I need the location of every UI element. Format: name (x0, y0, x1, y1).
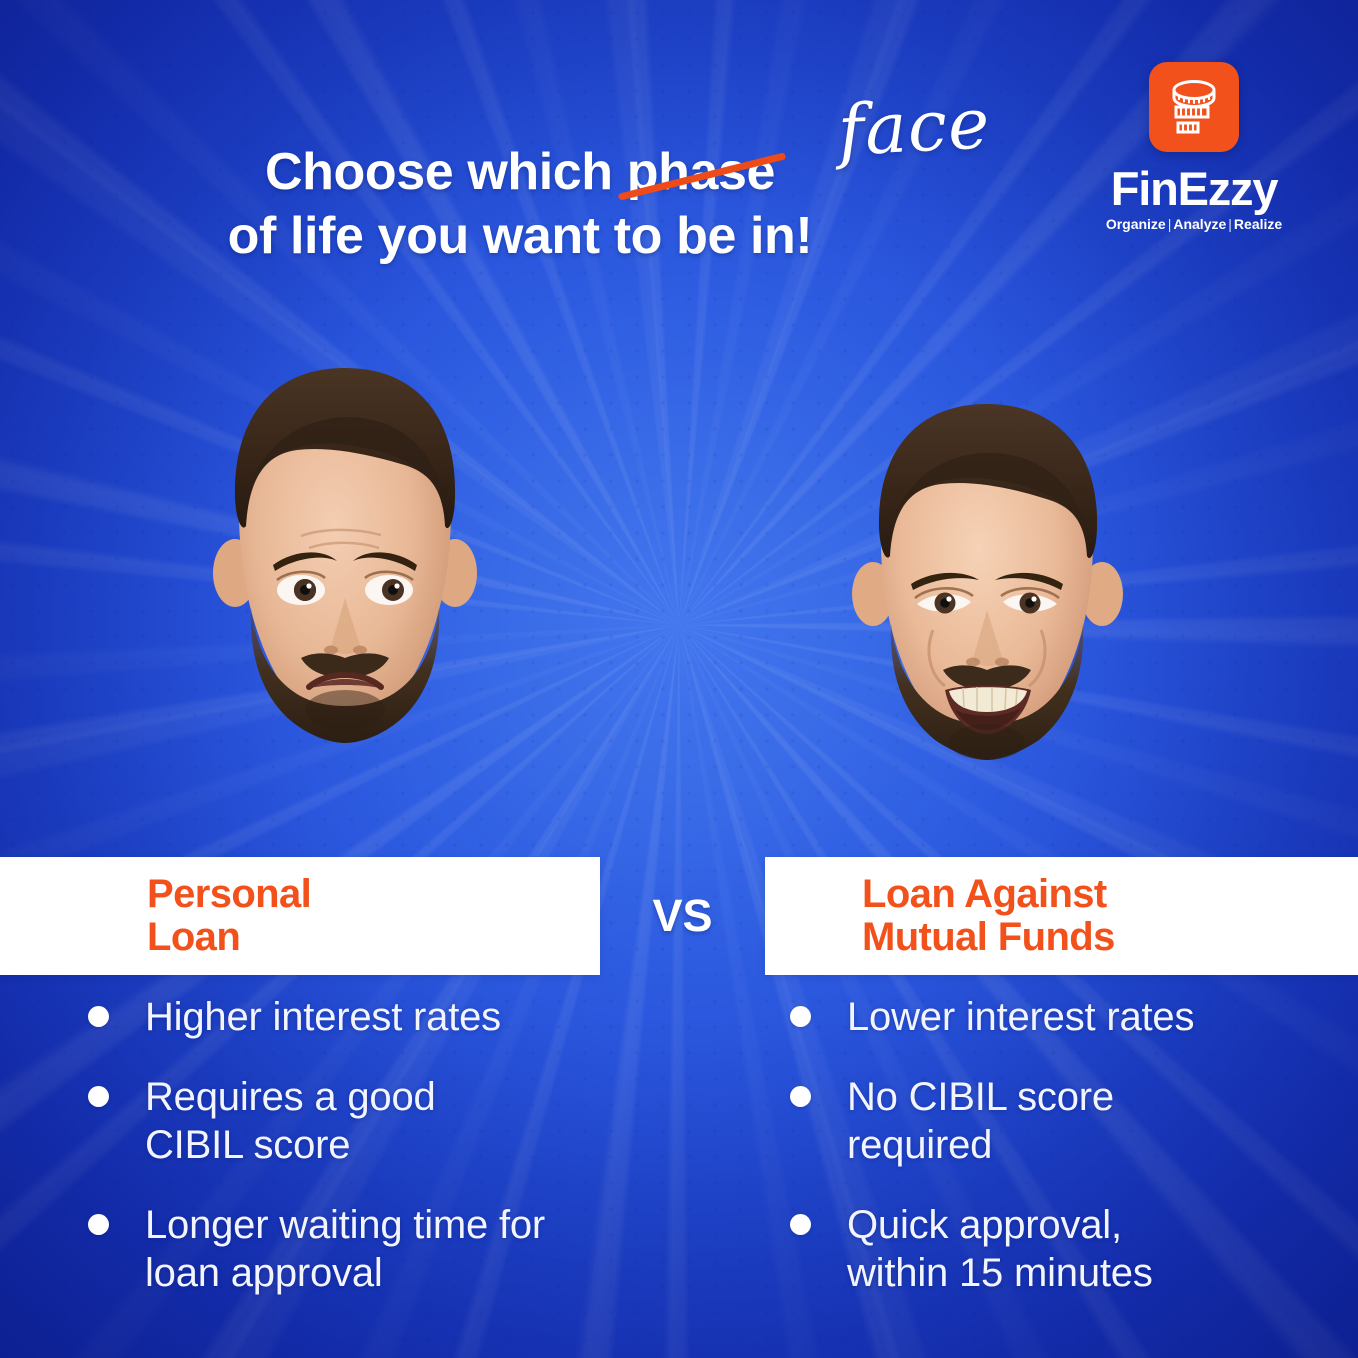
list-item-label: Lower interest rates (847, 993, 1194, 1041)
vs-separator: VS (600, 857, 765, 975)
coin-stack-icon (1149, 62, 1239, 152)
comparison-title-left: Personal Loan (147, 873, 311, 959)
list-item: Requires a goodCIBIL score (88, 1073, 648, 1169)
list-item-label: Quick approval,within 15 minutes (847, 1201, 1153, 1297)
tagline-word-analyze: Analyze (1173, 216, 1226, 232)
list-item: Lower interest rates (790, 993, 1330, 1041)
brand-wordmark-fin: Fin (1111, 162, 1178, 215)
comparison-header-right: Loan Against Mutual Funds (765, 857, 1358, 975)
happy-face-photo (845, 398, 1130, 766)
list-item-label: Higher interest rates (145, 993, 501, 1041)
list-item-label: Longer waiting time forloan approval (145, 1201, 545, 1297)
list-item-label: No CIBIL scorerequired (847, 1073, 1114, 1169)
list-item: Longer waiting time forloan approval (88, 1201, 648, 1297)
sad-face-photo (205, 358, 485, 763)
tagline-separator-2: | (1226, 216, 1234, 232)
comparison-title-left-line1: Personal (147, 873, 311, 916)
feature-list-left: Higher interest rates Requires a goodCIB… (88, 993, 648, 1329)
list-item: Higher interest rates (88, 993, 648, 1041)
bullet-dot-icon (88, 1086, 109, 1107)
tagline-word-organize: Organize (1106, 216, 1166, 232)
list-item: Quick approval,within 15 minutes (790, 1201, 1330, 1297)
headline-line-2: of life you want to be in! (0, 204, 1040, 268)
brand-wordmark: FinEzzy (1098, 164, 1290, 214)
headline-prefix: Choose which (265, 143, 627, 201)
tagline-separator-1: | (1166, 216, 1174, 232)
list-item-label: Requires a goodCIBIL score (145, 1073, 436, 1169)
poster-canvas: Choose which phase of life you want to b… (0, 0, 1358, 1358)
bullet-dot-icon (790, 1006, 811, 1027)
handwritten-correction-label: face (836, 82, 992, 172)
comparison-title-left-line2: Loan (147, 916, 311, 959)
comparison-header-left: Personal Loan (0, 857, 600, 975)
bullet-dot-icon (790, 1214, 811, 1235)
feature-list-right: Lower interest rates No CIBIL scorerequi… (790, 993, 1330, 1329)
comparison-title-right-line1: Loan Against (862, 873, 1115, 916)
tagline-word-realize: Realize (1234, 216, 1282, 232)
brand-logo[interactable]: FinEzzy Organize|Analyze|Realize (1098, 62, 1290, 232)
comparison-title-right: Loan Against Mutual Funds (862, 873, 1115, 959)
bullet-dot-icon (88, 1006, 109, 1027)
brand-wordmark-ezzy: Ezzy (1178, 162, 1278, 215)
bullet-dot-icon (88, 1214, 109, 1235)
comparison-title-right-line2: Mutual Funds (862, 916, 1115, 959)
brand-tagline: Organize|Analyze|Realize (1098, 216, 1290, 232)
headline-struck-word: phase (627, 140, 775, 204)
list-item: No CIBIL scorerequired (790, 1073, 1330, 1169)
bullet-dot-icon (790, 1086, 811, 1107)
